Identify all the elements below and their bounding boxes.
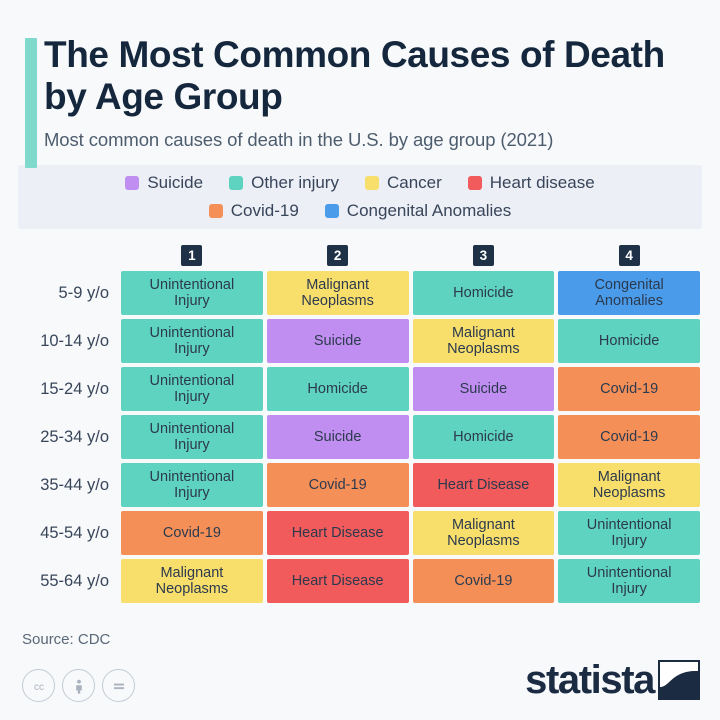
legend-swatch: [468, 176, 482, 190]
cause-label-line2: Injury: [150, 293, 235, 310]
cause-label-line1: Homicide: [599, 333, 659, 350]
cause-label-line1: Suicide: [460, 381, 508, 398]
cause-cell: Homicide: [558, 319, 700, 363]
cause-cell: UnintentionalInjury: [121, 463, 263, 507]
header: The Most Common Causes of Death by Age G…: [0, 0, 720, 151]
table-row: 35-44 y/oUnintentionalInjuryCovid-19Hear…: [20, 463, 700, 507]
cause-label-line2: Neoplasms: [301, 293, 374, 310]
cause-label-line1: Heart Disease: [292, 525, 384, 542]
cc-icon: cc: [22, 669, 55, 702]
cause-cell: UnintentionalInjury: [558, 511, 700, 555]
cause-cell: MalignantNeoplasms: [121, 559, 263, 603]
cause-cell: Heart Disease: [413, 463, 555, 507]
cause-cell: UnintentionalInjury: [121, 367, 263, 411]
legend-row-1: SuicideOther injuryCancerHeart disease: [28, 174, 692, 191]
cause-label-line1: Heart Disease: [292, 573, 384, 590]
row-label-age-group: 25-34 y/o: [20, 415, 117, 459]
cause-cell: Covid-19: [267, 463, 409, 507]
cause-cell: MalignantNeoplasms: [413, 319, 555, 363]
cause-label-line1: Malignant: [156, 565, 229, 582]
cause-cell: Homicide: [413, 415, 555, 459]
cause-cell: Homicide: [413, 271, 555, 315]
cause-cell: UnintentionalInjury: [121, 271, 263, 315]
row-label-age-group: 15-24 y/o: [20, 367, 117, 411]
rank-badge: 2: [327, 245, 348, 266]
cause-cell: UnintentionalInjury: [558, 559, 700, 603]
row-label-age-group: 55-64 y/o: [20, 559, 117, 603]
column-header-cell: 4: [558, 245, 700, 266]
legend-swatch: [229, 176, 243, 190]
row-label-age-group: 45-54 y/o: [20, 511, 117, 555]
cause-label-line1: Homicide: [307, 381, 367, 398]
legend-label: Covid-19: [231, 202, 299, 219]
cause-cell: Covid-19: [558, 415, 700, 459]
cause-label-line1: Suicide: [314, 429, 362, 446]
cause-label-line2: Injury: [150, 437, 235, 454]
creative-commons-icons: cc: [22, 669, 135, 702]
cause-label-line1: Unintentional: [150, 373, 235, 390]
cause-label-line1: Homicide: [453, 285, 513, 302]
legend-item: Suicide: [125, 174, 203, 191]
cause-label-line1: Malignant: [447, 517, 520, 534]
cause-cell: MalignantNeoplasms: [558, 463, 700, 507]
statista-mark-icon: [658, 660, 700, 700]
rank-badge: 1: [181, 245, 202, 266]
cause-cell: Suicide: [267, 415, 409, 459]
row-label-age-group: 5-9 y/o: [20, 271, 117, 315]
cause-label-line1: Unintentional: [150, 277, 235, 294]
cause-cell: Covid-19: [413, 559, 555, 603]
cause-label-line2: Injury: [150, 341, 235, 358]
legend-label: Congenital Anomalies: [347, 202, 511, 219]
statista-wordmark: statista: [525, 660, 654, 700]
cc-nd-equals-icon: [102, 669, 135, 702]
cause-label-line1: Homicide: [453, 429, 513, 446]
cause-label-line1: Malignant: [447, 325, 520, 342]
table-row: 15-24 y/oUnintentionalInjuryHomicideSuic…: [20, 367, 700, 411]
cause-label-line1: Covid-19: [600, 429, 658, 446]
cause-label-line1: Unintentional: [150, 325, 235, 342]
page-title: The Most Common Causes of Death by Age G…: [44, 34, 684, 118]
legend-label: Other injury: [251, 174, 339, 191]
legend-label: Cancer: [387, 174, 442, 191]
causes-table: 1234 5-9 y/oUnintentionalInjuryMalignant…: [20, 245, 700, 607]
table-body: 5-9 y/oUnintentionalInjuryMalignantNeopl…: [20, 271, 700, 603]
cause-cell: Heart Disease: [267, 511, 409, 555]
footer-bottom: cc statista: [22, 662, 700, 702]
cause-cell: Suicide: [413, 367, 555, 411]
table-row: 45-54 y/oCovid-19Heart DiseaseMalignantN…: [20, 511, 700, 555]
cause-label-line2: Injury: [150, 389, 235, 406]
cause-label-line1: Unintentional: [150, 421, 235, 438]
cause-cell: MalignantNeoplasms: [267, 271, 409, 315]
legend-swatch: [209, 204, 223, 218]
legend-item: Cancer: [365, 174, 442, 191]
svg-text:cc: cc: [34, 682, 44, 693]
footer: Source: CDC cc: [0, 631, 720, 720]
cause-label-line1: Congenital: [594, 277, 663, 294]
legend-label: Heart disease: [490, 174, 595, 191]
legend-item: Congenital Anomalies: [325, 202, 511, 219]
table-row: 55-64 y/oMalignantNeoplasmsHeart Disease…: [20, 559, 700, 603]
title-accent-bar: [25, 38, 37, 168]
legend-swatch: [365, 176, 379, 190]
cause-label-line1: Covid-19: [454, 573, 512, 590]
cause-cell: Suicide: [267, 319, 409, 363]
rank-badge: 4: [619, 245, 640, 266]
column-header-cell: 2: [267, 245, 409, 266]
cause-label-line1: Covid-19: [600, 381, 658, 398]
cause-label-line2: Anomalies: [594, 293, 663, 310]
row-label-age-group: 10-14 y/o: [20, 319, 117, 363]
cause-label-line1: Malignant: [593, 469, 666, 486]
infographic: The Most Common Causes of Death by Age G…: [0, 0, 720, 720]
column-header-row: 1234: [121, 245, 700, 266]
column-header-cell: 3: [413, 245, 555, 266]
cause-label-line2: Neoplasms: [593, 485, 666, 502]
cause-label-line2: Neoplasms: [447, 533, 520, 550]
column-header-cell: 1: [121, 245, 263, 266]
cause-cell: Covid-19: [121, 511, 263, 555]
rank-badge: 3: [473, 245, 494, 266]
page-subtitle: Most common causes of death in the U.S. …: [44, 129, 702, 151]
legend-label: Suicide: [147, 174, 203, 191]
table-row: 10-14 y/oUnintentionalInjurySuicideMalig…: [20, 319, 700, 363]
cause-cell: Heart Disease: [267, 559, 409, 603]
row-label-age-group: 35-44 y/o: [20, 463, 117, 507]
legend-item: Covid-19: [209, 202, 299, 219]
table-row: 5-9 y/oUnintentionalInjuryMalignantNeopl…: [20, 271, 700, 315]
cause-label-line2: Injury: [150, 485, 235, 502]
legend-swatch: [325, 204, 339, 218]
legend-item: Other injury: [229, 174, 339, 191]
legend: SuicideOther injuryCancerHeart disease C…: [18, 165, 702, 229]
cause-label-line2: Neoplasms: [447, 341, 520, 358]
cause-label-line2: Neoplasms: [156, 581, 229, 598]
source-note: Source: CDC: [22, 631, 700, 648]
cause-label-line1: Heart Disease: [437, 477, 529, 494]
cause-label-line1: Unintentional: [150, 469, 235, 486]
cause-label-line1: Suicide: [314, 333, 362, 350]
cause-label-line1: Covid-19: [163, 525, 221, 542]
cause-label-line1: Unintentional: [587, 517, 672, 534]
cause-cell: Covid-19: [558, 367, 700, 411]
cause-cell: UnintentionalInjury: [121, 319, 263, 363]
cause-cell: Homicide: [267, 367, 409, 411]
cause-label-line1: Malignant: [301, 277, 374, 294]
legend-item: Heart disease: [468, 174, 595, 191]
cause-cell: MalignantNeoplasms: [413, 511, 555, 555]
legend-swatch: [125, 176, 139, 190]
cause-cell: UnintentionalInjury: [121, 415, 263, 459]
cause-label-line2: Injury: [587, 581, 672, 598]
cause-label-line1: Unintentional: [587, 565, 672, 582]
cc-by-person-icon: [62, 669, 95, 702]
table-row: 25-34 y/oUnintentionalInjurySuicideHomic…: [20, 415, 700, 459]
cause-cell: CongenitalAnomalies: [558, 271, 700, 315]
cause-label-line2: Injury: [587, 533, 672, 550]
cause-label-line1: Covid-19: [309, 477, 367, 494]
statista-logo: statista: [525, 660, 700, 700]
legend-row-2: Covid-19Congenital Anomalies: [28, 202, 692, 219]
